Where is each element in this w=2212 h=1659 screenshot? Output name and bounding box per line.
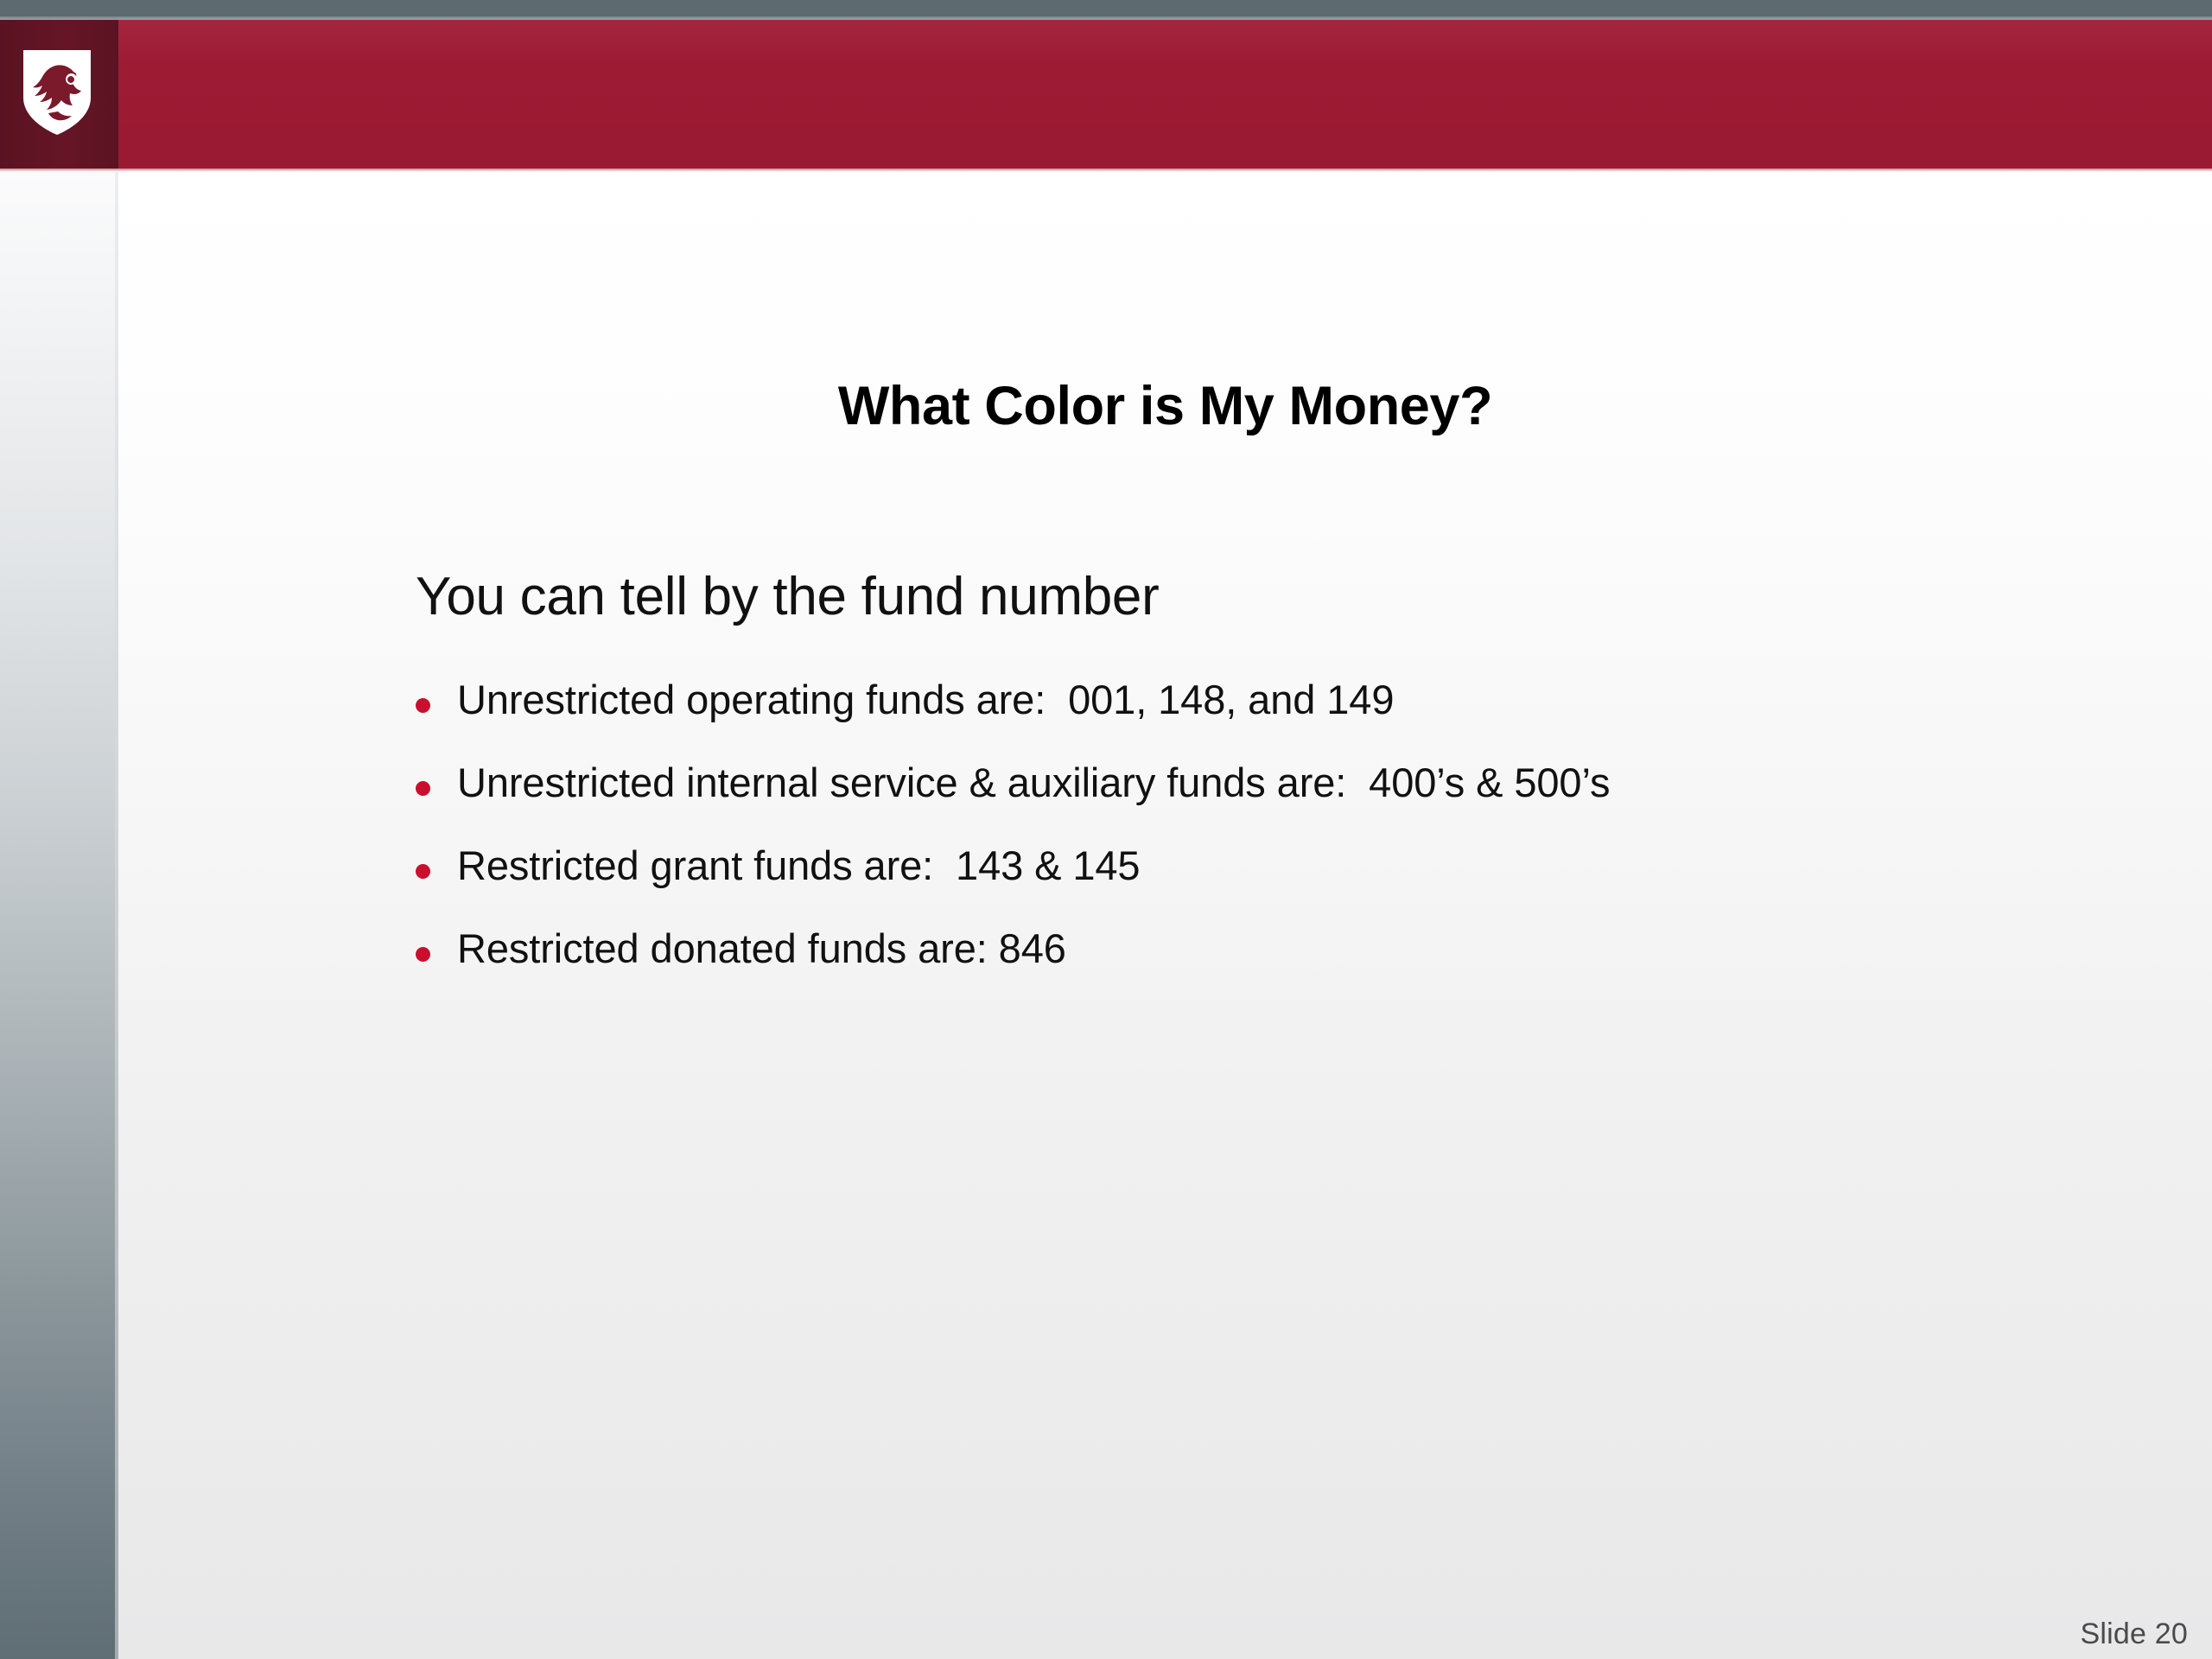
list-item-label: Restricted donated funds are: 846 — [457, 928, 2057, 969]
list-item-label: Unrestricted internal service & auxiliar… — [457, 762, 2057, 803]
list-item: Restricted grant funds are: 143 & 145 — [416, 845, 2057, 928]
list-item: Restricted donated funds are: 846 — [416, 928, 2057, 1011]
wsu-cougar-shield-icon — [20, 48, 94, 137]
bullet-dot-icon — [416, 781, 430, 796]
bullet-dot-icon — [416, 947, 430, 962]
list-item-label: Unrestricted operating funds are: 001, 1… — [457, 679, 2057, 720]
bullet-dot-icon — [416, 698, 430, 713]
bullet-dot-icon — [416, 864, 430, 879]
header-bar — [0, 20, 2212, 168]
slide-number-footer: Slide 20 — [2081, 1618, 2188, 1651]
list-item-label: Restricted grant funds are: 143 & 145 — [457, 845, 2057, 886]
slide-subtitle: You can tell by the fund number — [416, 568, 1159, 626]
header-bar-sheen — [0, 20, 2212, 168]
bullet-list: Unrestricted operating funds are: 001, 1… — [416, 679, 2057, 1011]
list-item: Unrestricted internal service & auxiliar… — [416, 762, 2057, 845]
left-gradient-sidebar — [0, 172, 115, 1659]
slide-title: What Color is My Money? — [118, 378, 2212, 435]
presentation-slide: What Color is My Money? You can tell by … — [0, 0, 2212, 1659]
logo-block — [0, 20, 118, 168]
top-accent-strip — [0, 0, 2212, 16]
list-item: Unrestricted operating funds are: 001, 1… — [416, 679, 2057, 762]
